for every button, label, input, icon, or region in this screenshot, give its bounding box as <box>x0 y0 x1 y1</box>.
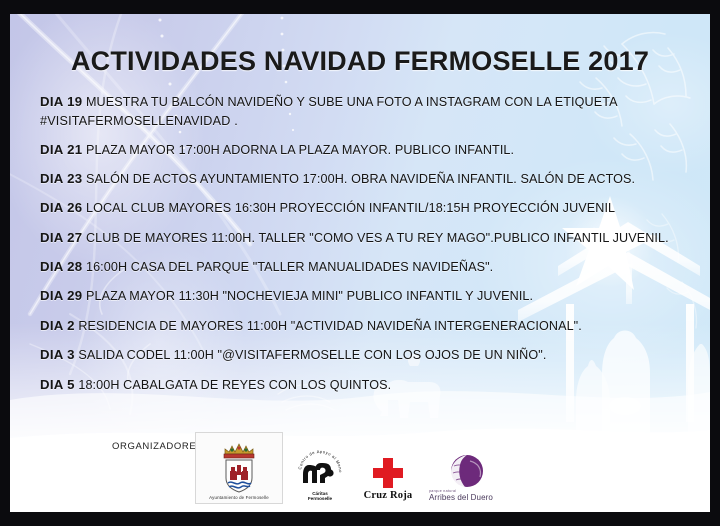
schedule-body: CLUB DE MAYORES 11:00H. TALLER "COMO VES… <box>86 231 669 245</box>
schedule-body: LOCAL CLUB MAYORES 16:30H PROYECCIÓN INF… <box>86 201 615 215</box>
schedule-body: PLAZA MAYOR 17:00H ADORNA LA PLAZA MAYOR… <box>86 143 514 157</box>
schedule-body: SALIDA CODEL 11:00H "@VISITAFERMOSELLE C… <box>78 348 546 362</box>
organizers-section: ORGANIZADORES: <box>40 422 680 508</box>
schedule-list: DIA 19 MUESTRA TU BALCÓN NAVIDEÑO Y SUBE… <box>40 94 695 406</box>
poster-canvas: ACTIVIDADES NAVIDAD FERMOSELLE 2017 DIA … <box>10 14 710 512</box>
logo-caption: Ayuntamiento de Fermoselle <box>209 495 269 500</box>
schedule-hashtag: #VISITAFERMOSELLENAVIDAD . <box>40 113 695 129</box>
schedule-day: DIA 3 <box>40 347 75 362</box>
schedule-day: DIA 23 <box>40 171 82 186</box>
logo-caption: Arribes del Duero <box>429 493 493 502</box>
list-item: DIA 21 PLAZA MAYOR 17:00H ADORNA LA PLAZ… <box>40 142 695 159</box>
schedule-day: DIA 5 <box>40 377 75 392</box>
list-item: DIA 29 PLAZA MAYOR 11:30H "NOCHEVIEJA MI… <box>40 288 695 305</box>
poster-frame: ACTIVIDADES NAVIDAD FERMOSELLE 2017 DIA … <box>0 0 720 526</box>
logo-caption: Cruz Roja <box>364 490 413 501</box>
list-item: DIA 23 SALÓN DE ACTOS AYUNTAMIENTO 17:00… <box>40 171 695 188</box>
schedule-day: DIA 2 <box>40 318 75 333</box>
logo-ayuntamiento-de-fermoselle: Ayuntamiento de Fermoselle <box>195 432 283 504</box>
schedule-day: DIA 27 <box>40 230 82 245</box>
page-title: ACTIVIDADES NAVIDAD FERMOSELLE 2017 <box>10 46 710 77</box>
list-item: DIA 26 LOCAL CLUB MAYORES 16:30H PROYECC… <box>40 200 695 217</box>
organizers-label: ORGANIZADORES: <box>112 441 206 452</box>
list-item: DIA 27 CLUB DE MAYORES 11:00H. TALLER "C… <box>40 230 695 247</box>
logo-arribes-del-duero: parque natural Arribes del Duero <box>425 444 511 504</box>
globe-icon <box>448 453 488 489</box>
list-item: DIA 2 RESIDENCIA DE MAYORES 11:00H "ACTI… <box>40 318 695 335</box>
schedule-day: DIA 21 <box>40 142 82 157</box>
organizer-logo-strip: Ayuntamiento de Fermoselle Centro de Apo… <box>195 422 511 504</box>
coat-of-arms-icon <box>216 438 262 494</box>
list-item: DIA 19 MUESTRA TU BALCÓN NAVIDEÑO Y SUBE… <box>40 94 695 129</box>
red-cross-icon <box>372 457 404 489</box>
schedule-body: MUESTRA TU BALCÓN NAVIDEÑO Y SUBE UNA FO… <box>86 95 618 109</box>
list-item: DIA 5 18:00H CABALGATA DE REYES CON LOS … <box>40 377 695 394</box>
logo-cruz-roja: Cruz Roja <box>357 444 419 504</box>
list-item: DIA 28 16:00H CASA DEL PARQUE "TALLER MA… <box>40 259 695 276</box>
caritas-line-1: Cáritas <box>312 491 328 496</box>
schedule-body: PLAZA MAYOR 11:30H "NOCHEVIEJA MINI" PUB… <box>86 289 533 303</box>
schedule-body: RESIDENCIA DE MAYORES 11:00H "ACTIVIDAD … <box>78 319 582 333</box>
schedule-day: DIA 29 <box>40 288 82 303</box>
logo-caption: Cáritas Fermoselle <box>308 491 332 502</box>
schedule-body: 18:00H CABALGATA DE REYES CON LOS QUINTO… <box>78 378 391 392</box>
schedule-body: 16:00H CASA DEL PARQUE "TALLER MANUALIDA… <box>86 260 493 274</box>
schedule-day: DIA 28 <box>40 259 82 274</box>
list-item: DIA 3 SALIDA CODEL 11:00H "@VISITAFERMOS… <box>40 347 695 364</box>
caritas-line-2: Fermoselle <box>308 496 332 501</box>
schedule-day: DIA 19 <box>40 94 82 109</box>
schedule-day: DIA 26 <box>40 200 82 215</box>
caritas-hands-icon: Centro de Apoyo al Menor <box>295 447 345 491</box>
schedule-body: SALÓN DE ACTOS AYUNTAMIENTO 17:00H. OBRA… <box>86 172 635 186</box>
logo-caritas-fermoselle: Centro de Apoyo al Menor Cáritas Fermose… <box>289 444 351 504</box>
